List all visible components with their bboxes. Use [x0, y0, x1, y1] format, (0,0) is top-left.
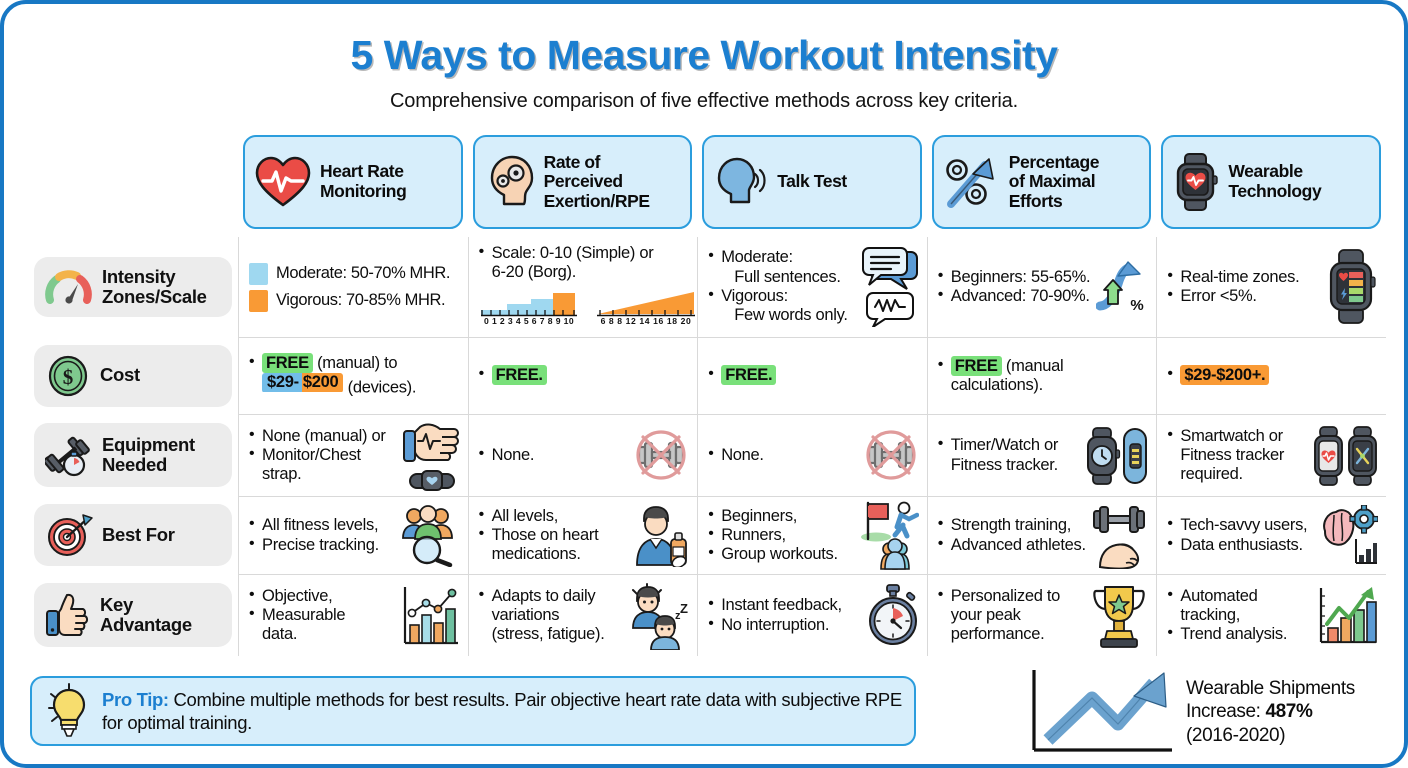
- table-row-best-for: Best For All fitness levels, Precise tra…: [30, 496, 1386, 574]
- list-item: Moderate: Full sentences.: [708, 248, 857, 287]
- bullet-list: FREE.: [708, 366, 919, 385]
- watch-tracker-icon: [1086, 426, 1148, 486]
- thumbs-up-icon: [45, 592, 91, 638]
- legend-label-vigorous: Vigorous: 70-85% MHR.: [276, 291, 445, 310]
- column-header-label: Wearable Technology: [1228, 162, 1321, 201]
- cell-equipment-wearable: Smartwatch or Fitness tracker required.: [1156, 414, 1386, 496]
- list-item: FREE (manual) to $29-$200 (devices).: [249, 354, 460, 398]
- cell-cost-rpe: FREE.: [468, 337, 698, 414]
- row-label-best-for: Best For: [30, 496, 238, 574]
- list-item: Data enthusiasts.: [1167, 536, 1316, 555]
- bullet-list: All levels, Those on heart medications.: [479, 507, 628, 565]
- cell-key-advantage-rpe: Adapts to daily variations (stress, fati…: [468, 574, 698, 656]
- list-item: Timer/Watch or Fitness tracker.: [938, 436, 1083, 475]
- borg-scale-chart: 6 8 8 12 14 16 18 20: [595, 285, 699, 330]
- bullet-list: None (manual) or Monitor/Chest strap.: [249, 427, 398, 485]
- bullet-list: Strength training, Advanced athletes.: [938, 516, 1089, 555]
- list-item: None.: [479, 446, 630, 465]
- list-item: FREE.: [708, 366, 919, 385]
- row-label-line-1: Intensity: [102, 266, 175, 287]
- upward-trend-arrow-icon: [1026, 668, 1176, 756]
- cost-free-badge: FREE: [262, 353, 313, 373]
- cell-intensity-talk-test: Moderate: Full sentences. Vigorous: Few …: [697, 237, 927, 337]
- bullet-list: Beginners: 55-65%. Advanced: 70-90%.: [938, 268, 1093, 307]
- smartwatch-zones-icon: [1324, 249, 1378, 325]
- header-line-1: Wearable: [1228, 161, 1302, 181]
- column-header-heart-rate-monitoring[interactable]: Heart Rate Monitoring: [238, 135, 468, 229]
- row-label-key-advantage: Key Advantage: [30, 574, 238, 656]
- rpe-scale-charts: 0 1 2 3 4 5 6 7 8 9 10: [479, 285, 690, 330]
- cost-range-badge: $29-$200+.: [1180, 365, 1269, 385]
- cell-best-for-percentage: Strength training, Advanced athletes.: [927, 496, 1157, 574]
- row-label-intensity-zones-scale: Intensity Zones/Scale: [30, 237, 238, 337]
- cell-equipment-talk-test: None.: [697, 414, 927, 496]
- pro-tip-text: Pro Tip: Combine multiple methods for be…: [102, 688, 902, 735]
- cell-intensity-wearable: Real-time zones. Error <5%.: [1156, 237, 1386, 337]
- column-header-wearable-technology[interactable]: Wearable Technology: [1156, 135, 1386, 229]
- cell-key-advantage-talk-test: Instant feedback, No interruption.: [697, 574, 927, 656]
- list-item: All levels,: [479, 507, 628, 526]
- list-item: Automated tracking,: [1167, 587, 1312, 626]
- cell-best-for-talk-test: Beginners, Runners, Group workouts.: [697, 496, 927, 574]
- legend-swatch-moderate: [249, 263, 268, 285]
- list-item: Beginners,: [708, 507, 853, 526]
- no-equipment-icon: [863, 429, 919, 483]
- cell-best-for-heart-rate: All fitness levels, Precise tracking.: [238, 496, 468, 574]
- header-line-2: Perceived: [544, 171, 623, 191]
- bullet-list: Scale: 0-10 (Simple) or 6-20 (Borg).: [479, 244, 690, 283]
- bullet-list: FREE.: [479, 366, 690, 385]
- cell-intensity-heart-rate: Moderate: 50-70% MHR. Vigorous: 70-85% M…: [238, 237, 468, 337]
- brain-gear-chart-icon: [1320, 505, 1378, 567]
- list-item: Instant feedback,: [708, 596, 863, 615]
- cell-key-advantage-percentage: Personalized to your peak performance.: [927, 574, 1157, 656]
- list-item: FREE (manual calculations).: [938, 357, 1149, 396]
- list-item: Monitor/Chest strap.: [249, 446, 398, 485]
- flag-runner-group-icon: [857, 501, 919, 571]
- borg-scale-ticks: 6 8 8 12 14 16 18 20: [600, 316, 691, 325]
- cell-equipment-rpe: None.: [468, 414, 698, 496]
- smartwatch-icon: [1172, 152, 1220, 212]
- list-item: Error <5%.: [1167, 287, 1320, 306]
- cell-cost-percentage: FREE (manual calculations).: [927, 337, 1157, 414]
- two-smartwatches-icon: [1312, 425, 1378, 487]
- bullet-list: All fitness levels, Precise tracking.: [249, 516, 396, 555]
- bullet-list: FREE (manual calculations).: [938, 357, 1149, 396]
- table-row-equipment-needed: Equipment Needed None (manual) or Monito…: [30, 414, 1386, 496]
- row-label-line-1: Equipment: [102, 434, 195, 455]
- table-row-intensity-zones-scale: Intensity Zones/Scale Moderate: 50-70% M…: [30, 237, 1386, 337]
- row-label-text: Best For: [102, 525, 175, 545]
- bullet-list: Tech-savvy users, Data enthusiasts.: [1167, 516, 1316, 555]
- svg-text:Z: Z: [680, 601, 688, 616]
- bullet-list: None.: [708, 446, 859, 465]
- bullet-list: None.: [479, 446, 630, 465]
- bullet-list: Automated tracking, Trend analysis.: [1167, 587, 1312, 645]
- cell-cost-heart-rate: FREE (manual) to $29-$200 (devices).: [238, 337, 468, 414]
- list-item: Real-time zones.: [1167, 268, 1320, 287]
- header-line-1: Talk Test: [777, 171, 847, 191]
- page-title: 5 Ways to Measure Workout Intensity: [22, 32, 1386, 79]
- pro-tip-label: Pro Tip:: [102, 689, 169, 710]
- row-label-text: Equipment Needed: [102, 435, 195, 476]
- cell-key-advantage-heart-rate: Objective, Measurable data.: [238, 574, 468, 656]
- list-item: No interruption.: [708, 616, 863, 635]
- svg-text:$: $: [63, 365, 74, 389]
- list-item: Scale: 0-10 (Simple) or 6-20 (Borg).: [479, 244, 690, 283]
- list-item: Precise tracking.: [249, 536, 396, 555]
- list-item: Those on heart medications.: [479, 526, 628, 565]
- list-item: None (manual) or: [249, 427, 398, 446]
- header-line-3: Efforts: [1009, 191, 1063, 211]
- simple-scale-chart: 0 1 2 3 4 5 6 7 8 9 10: [479, 285, 583, 330]
- list-item: Vigorous: Few words only.: [708, 287, 857, 326]
- stat-text: Wearable Shipments Increase: 487% (2016-…: [1186, 677, 1355, 748]
- row-label-line-1: Best For: [102, 524, 175, 545]
- legend-swatch-vigorous: [249, 290, 268, 312]
- bullet-list: Moderate: Full sentences. Vigorous: Few …: [708, 248, 857, 325]
- stat-line-1: Wearable Shipments: [1186, 678, 1355, 699]
- row-label-text: Cost: [100, 365, 140, 385]
- page-subtitle: Comprehensive comparison of five effecti…: [22, 90, 1386, 113]
- cell-best-for-wearable: Tech-savvy users, Data enthusiasts.: [1156, 496, 1386, 574]
- cell-intensity-percentage: Beginners: 55-65%. Advanced: 70-90%. %: [927, 237, 1157, 337]
- speech-bubbles-icon: [861, 247, 919, 327]
- pro-tip-body: Combine multiple methods for best result…: [102, 689, 902, 733]
- legend-label-moderate: Moderate: 50-70% MHR.: [276, 264, 450, 283]
- no-equipment-icon: [633, 429, 689, 483]
- bullet-list: Beginners, Runners, Group workouts.: [708, 507, 853, 565]
- wearable-shipments-stat: Wearable Shipments Increase: 487% (2016-…: [1026, 666, 1394, 758]
- dumbbell-stopwatch-icon: [45, 432, 93, 478]
- cell-key-advantage-wearable: Automated tracking, Trend analysis.: [1156, 574, 1386, 656]
- list-item: All fitness levels,: [249, 516, 396, 535]
- bullet-list: Smartwatch or Fitness tracker required.: [1167, 427, 1308, 485]
- column-header-row: Heart Rate Monitoring: [30, 135, 1386, 229]
- gauge-icon: [45, 266, 93, 308]
- column-header-label: Percentage of Maximal Efforts: [1009, 153, 1099, 212]
- list-item: Objective,: [249, 587, 396, 606]
- header-line-2: of Maximal: [1009, 171, 1095, 191]
- hand-pulse-chest-strap-icon: [402, 419, 460, 493]
- list-item: $29-$200+.: [1167, 366, 1378, 385]
- dollar-coin-icon: $: [45, 354, 91, 398]
- stat-line-2-prefix: Increase:: [1186, 701, 1265, 722]
- lightbulb-icon: [45, 682, 93, 740]
- row-label-line-1: Cost: [100, 364, 140, 385]
- simple-scale-ticks: 0 1 2 3 4 5 6 7 8 9 10: [484, 316, 574, 325]
- cell-equipment-heart-rate: None (manual) or Monitor/Chest strap.: [238, 414, 468, 496]
- row-label-line-2: Advantage: [100, 614, 192, 635]
- row-label-equipment-needed: Equipment Needed: [30, 414, 238, 496]
- row-label-line-2: Zones/Scale: [102, 286, 207, 307]
- cost-free-badge: FREE.: [492, 365, 547, 385]
- cell-cost-talk-test: FREE.: [697, 337, 927, 414]
- list-item: Smartwatch or Fitness tracker required.: [1167, 427, 1308, 485]
- corner-spacer: [30, 135, 238, 229]
- table-row-cost: $ Cost FREE (manual) to $29-$200 (device…: [30, 337, 1386, 414]
- list-item: Tech-savvy users,: [1167, 516, 1316, 535]
- target-dart-icon: [45, 513, 93, 557]
- cost-free-badge: FREE: [951, 356, 1002, 376]
- comparison-grid: Heart Rate Monitoring: [30, 135, 1386, 656]
- list-item: None.: [708, 446, 859, 465]
- legend-item-vigorous: Vigorous: 70-85% MHR.: [249, 290, 460, 312]
- column-header-label: Heart Rate Monitoring: [320, 162, 406, 201]
- header-line-2: Monitoring: [320, 181, 406, 201]
- cell-best-for-rpe: All levels, Those on heart medications.: [468, 496, 698, 574]
- growth-arrow-percent-icon: %: [1096, 260, 1148, 314]
- legend-item-moderate: Moderate: 50-70% MHR.: [249, 263, 460, 285]
- header-line-2: Technology: [1228, 181, 1321, 201]
- stopwatch-icon: [867, 584, 919, 648]
- header-line-1: Percentage: [1009, 152, 1099, 172]
- people-magnifier-icon: [400, 505, 460, 567]
- header-line-3: Exertion/RPE: [544, 191, 650, 211]
- list-item: Personalized to your peak performance.: [938, 587, 1087, 645]
- bullet-list: Instant feedback, No interruption.: [708, 596, 863, 635]
- speaking-head-icon: [713, 156, 769, 208]
- stat-value: 487%: [1265, 701, 1312, 722]
- list-item: Runners,: [708, 526, 853, 545]
- tired-people-icon: z Z: [625, 582, 689, 650]
- growth-bar-chart-icon: [1316, 584, 1378, 648]
- list-item: Trend analysis.: [1167, 625, 1312, 644]
- list-item: Advanced athletes.: [938, 536, 1089, 555]
- header-line-1: Heart Rate: [320, 161, 404, 181]
- cell-equipment-percentage: Timer/Watch or Fitness tracker.: [927, 414, 1157, 496]
- row-label-line-2: Needed: [102, 454, 167, 475]
- bar-line-chart-icon: [400, 583, 460, 649]
- header-line-1: Rate of: [544, 152, 601, 172]
- column-header-label: Rate of Perceived Exertion/RPE: [544, 153, 650, 212]
- row-label-line-1: Key: [100, 594, 133, 615]
- list-item: Strength training,: [938, 516, 1089, 535]
- svg-text:%: %: [1131, 297, 1144, 314]
- cell-intensity-rpe: Scale: 0-10 (Simple) or 6-20 (Borg).: [468, 237, 698, 337]
- column-header-percentage-of-maximal-efforts[interactable]: Percentage of Maximal Efforts: [927, 135, 1157, 229]
- column-header-talk-test[interactable]: Talk Test: [697, 135, 927, 229]
- list-item: Beginners: 55-65%.: [938, 268, 1093, 287]
- list-item: Group workouts.: [708, 545, 853, 564]
- person-medication-icon: [631, 505, 689, 567]
- row-label-cost: $ Cost: [30, 337, 238, 414]
- pro-tip-banner: Pro Tip: Combine multiple methods for be…: [30, 676, 916, 746]
- bullet-list: Real-time zones. Error <5%.: [1167, 268, 1320, 307]
- row-label-text: Key Advantage: [100, 595, 192, 636]
- infographic-page: 5 Ways to Measure Workout Intensity Comp…: [0, 0, 1408, 768]
- percent-arrow-icon: [943, 154, 1001, 210]
- dumbbell-biceps-icon: [1092, 503, 1148, 569]
- row-label-text: Intensity Zones/Scale: [102, 267, 207, 308]
- list-item: Measurable data.: [249, 606, 396, 645]
- bullet-list: $29-$200+.: [1167, 366, 1378, 385]
- column-header-rate-of-perceived-exertion[interactable]: Rate of Perceived Exertion/RPE: [468, 135, 698, 229]
- table-row-key-advantage: Key Advantage Objective, Measurable data…: [30, 574, 1386, 656]
- list-item: Adapts to daily variations (stress, fati…: [479, 587, 622, 645]
- bullet-list: FREE (manual) to $29-$200 (devices).: [249, 354, 460, 398]
- trophy-icon: [1090, 583, 1148, 649]
- column-header-label: Talk Test: [777, 172, 847, 192]
- bullet-list: Adapts to daily variations (stress, fati…: [479, 587, 622, 645]
- list-item: FREE.: [479, 366, 690, 385]
- cost-range-badge: $29-$200: [262, 373, 343, 392]
- cost-free-badge: FREE.: [721, 365, 776, 385]
- bullet-list: Timer/Watch or Fitness tracker.: [938, 436, 1083, 475]
- cell-cost-wearable: $29-$200+.: [1156, 337, 1386, 414]
- head-gears-icon: [484, 154, 536, 210]
- heart-pulse-icon: [254, 155, 312, 209]
- bullet-list: Objective, Measurable data.: [249, 587, 396, 645]
- stat-line-3: (2016-2020): [1186, 725, 1285, 746]
- bullet-list: Personalized to your peak performance.: [938, 587, 1087, 645]
- list-item: Advanced: 70-90%.: [938, 287, 1093, 306]
